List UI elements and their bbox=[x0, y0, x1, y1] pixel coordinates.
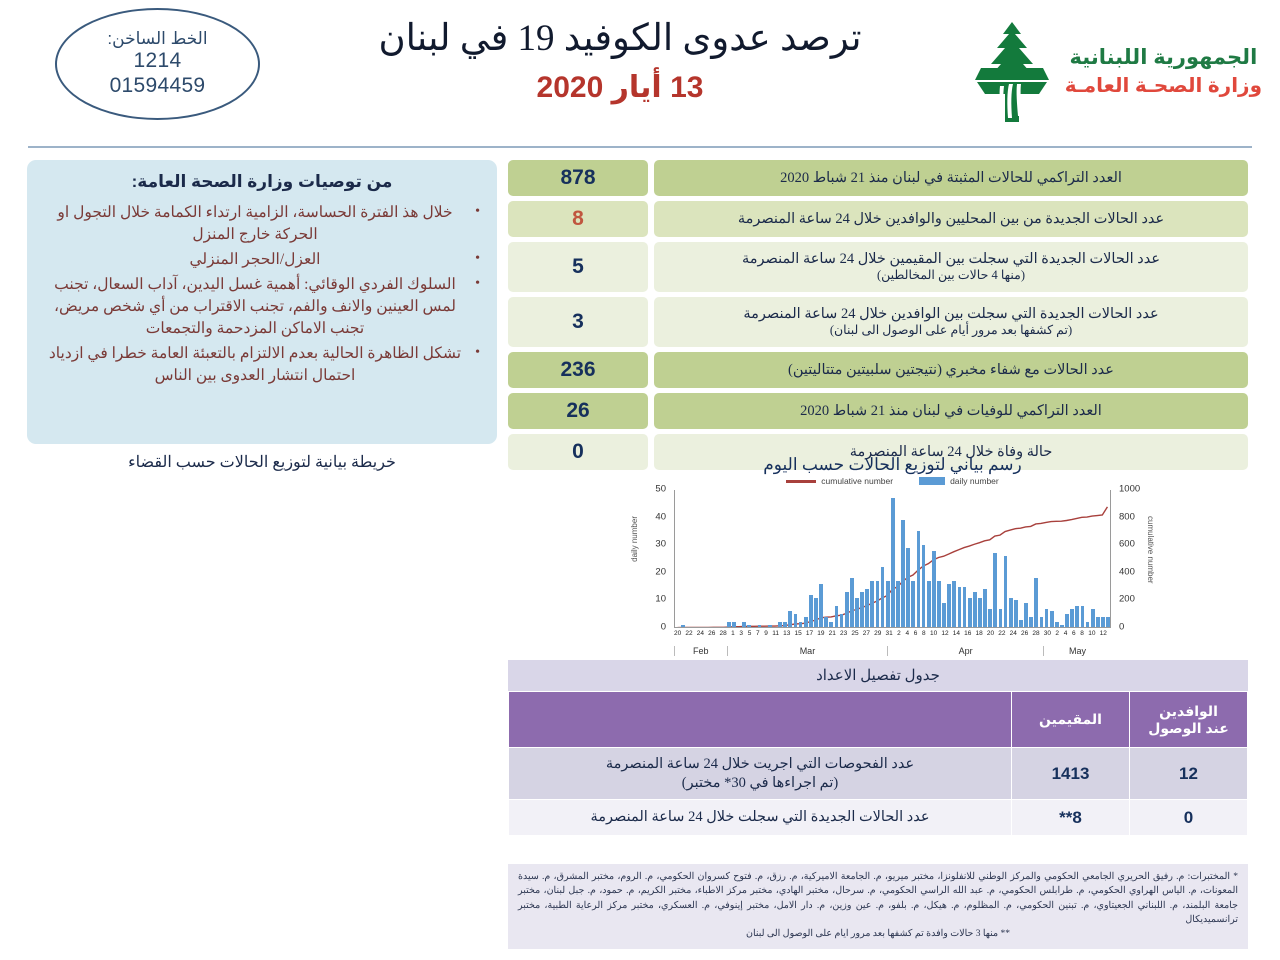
y2-tick-label: 600 bbox=[1119, 539, 1143, 550]
hotline-badge: الخط الساخن: 1214 01594459 bbox=[55, 8, 260, 120]
stat-label: عدد الحالات الجديدة من بين المحليين والو… bbox=[654, 201, 1248, 237]
cell-description: عدد الفحوصات التي اجريت خلال 24 ساعة الم… bbox=[509, 748, 1012, 800]
chart-bar bbox=[1009, 598, 1013, 628]
chart-bar bbox=[988, 609, 992, 628]
stat-label: العدد التراكمي للحالات المثبتة في لبنان … bbox=[654, 160, 1248, 196]
stat-value: 0 bbox=[508, 434, 648, 470]
chart-bar bbox=[850, 578, 854, 628]
y2-tick-label: 1000 bbox=[1119, 484, 1143, 495]
legend-label: daily number bbox=[950, 476, 999, 486]
stat-label: العدد التراكمي للوفيات في لبنان منذ 21 ش… bbox=[654, 393, 1248, 429]
chart-bar bbox=[947, 584, 951, 628]
legend-item-daily: daily number bbox=[919, 476, 999, 486]
legend-item-cumulative: cumulative number bbox=[786, 476, 893, 486]
chart-bar bbox=[999, 609, 1003, 628]
x-tick-label: 27 bbox=[863, 630, 870, 637]
stat-label-main: عدد الحالات الجديدة التي سجلت بين المقيم… bbox=[742, 251, 1160, 267]
x-tick-label: 15 bbox=[795, 630, 802, 637]
x-tick-label: 22 bbox=[685, 630, 692, 637]
x-tick-label: 16 bbox=[964, 630, 971, 637]
x-tick-label: 24 bbox=[697, 630, 704, 637]
chart-bar bbox=[927, 581, 931, 628]
chart-bar bbox=[1075, 606, 1079, 628]
stat-value: 3 bbox=[508, 297, 648, 347]
x-tick-label: 28 bbox=[720, 630, 727, 637]
chart-bar bbox=[917, 531, 921, 628]
chart-bar bbox=[1081, 606, 1085, 628]
table-row: 0 8** عدد الحالات الجديدة التي سجلت خلال… bbox=[509, 800, 1248, 836]
chart-bar bbox=[1004, 556, 1008, 628]
stat-row: عدد الحالات الجديدة من بين المحليين والو… bbox=[508, 201, 1248, 237]
x-tick-label: 12 bbox=[941, 630, 948, 637]
x-axis-ticks: 2022242628135791113151719212325272931246… bbox=[674, 630, 1111, 637]
footnote-labs: * المختبرات: م. رفيق الحريري الجامعي الح… bbox=[518, 870, 1238, 927]
chart-bar bbox=[896, 581, 900, 628]
ministry-names: الجمهورية اللبنانية وزارة الصحـة العامـة bbox=[1065, 44, 1262, 99]
stat-value: 5 bbox=[508, 242, 648, 292]
chart-bar bbox=[886, 581, 890, 628]
legend-swatch-bar-icon bbox=[919, 477, 945, 485]
x-axis-month-label: May bbox=[1043, 646, 1111, 656]
stat-value: 26 bbox=[508, 393, 648, 429]
recommendations-list: خلال هذ الفترة الحساسة، الزامية ارتداء ا… bbox=[43, 202, 481, 387]
x-axis-month-label: Apr bbox=[887, 646, 1043, 656]
chart-title: رسم بياني لتوزيع الحالات حسب اليوم bbox=[630, 455, 1155, 475]
chart-bar bbox=[860, 592, 864, 628]
legend-label: cumulative number bbox=[821, 476, 893, 486]
hotline-label: الخط الساخن: bbox=[107, 29, 207, 49]
chart-bar bbox=[952, 581, 956, 628]
legend-swatch-line-icon bbox=[786, 480, 816, 483]
page-header: الخط الساخن: 1214 01594459 ترصد عدوى الك… bbox=[0, 0, 1280, 148]
statistics-panel: العدد التراكمي للحالات المثبتة في لبنان … bbox=[508, 160, 1248, 475]
chart-bar bbox=[978, 598, 982, 628]
chart-bar bbox=[968, 598, 972, 628]
x-tick-label: 14 bbox=[953, 630, 960, 637]
x-axis-month-label: Mar bbox=[727, 646, 888, 656]
x-tick-label bbox=[1107, 630, 1111, 637]
y-tick-label: 10 bbox=[642, 594, 666, 605]
cell-arrivals: 0 bbox=[1130, 800, 1248, 836]
chart-bar bbox=[932, 551, 936, 628]
chart-bar bbox=[870, 581, 874, 628]
x-tick-label: 18 bbox=[976, 630, 983, 637]
chart-bar bbox=[1034, 578, 1038, 628]
list-item: العزل/الحجر المنزلي bbox=[43, 249, 467, 271]
stat-row: عدد الحالات مع شفاء مخبري (نتيجتين سلبيت… bbox=[508, 352, 1248, 388]
stat-value: 878 bbox=[508, 160, 648, 196]
stat-label-main: عدد الحالات الجديدة التي سجلت بين الوافد… bbox=[743, 306, 1158, 322]
chart-bar bbox=[1050, 611, 1054, 628]
y-axis-title-right: cumulative number bbox=[1146, 516, 1155, 584]
x-tick-label: 17 bbox=[806, 630, 813, 637]
x-tick-label: 13 bbox=[783, 630, 790, 637]
chart-bar bbox=[937, 581, 941, 628]
chart-bar bbox=[958, 587, 962, 628]
x-tick-label: 10 bbox=[1088, 630, 1095, 637]
chart-bar bbox=[1065, 614, 1069, 628]
stat-label-sub: (منها 4 حالات بين المخالطين) bbox=[742, 268, 1160, 284]
table-header-row: الوافدين عند الوصول المقيمين bbox=[509, 692, 1248, 748]
chart-bar bbox=[901, 520, 905, 628]
stat-label: عدد الحالات الجديدة التي سجلت بين المقيم… bbox=[654, 242, 1248, 292]
header-divider bbox=[28, 146, 1252, 148]
column-header-description bbox=[509, 692, 1012, 748]
hotline-number-primary: 1214 bbox=[134, 49, 182, 74]
x-tick-label: 20 bbox=[674, 630, 681, 637]
chart-bar bbox=[922, 545, 926, 628]
chart-bar bbox=[1091, 609, 1095, 628]
chart-bar bbox=[794, 614, 798, 628]
chart-bar bbox=[845, 592, 849, 628]
recommendations-panel: من توصيات وزارة الصحة العامة: خلال هذ ال… bbox=[27, 160, 497, 444]
chart-bar bbox=[1024, 603, 1028, 628]
chart-bar bbox=[814, 598, 818, 628]
stat-label-sub: (تم كشفها بعد مرور أيام على الوصول الى ل… bbox=[743, 323, 1158, 339]
chart-bar bbox=[876, 581, 880, 628]
cell-arrivals: 12 bbox=[1130, 748, 1248, 800]
chart-bar bbox=[963, 587, 967, 628]
chart-bar bbox=[983, 589, 987, 628]
chart-bar bbox=[906, 548, 910, 628]
chart-bar bbox=[1045, 609, 1049, 628]
report-date: 13 أيار 2020 bbox=[300, 70, 940, 105]
republic-name: الجمهورية اللبنانية bbox=[1065, 44, 1262, 72]
chart-bar bbox=[835, 606, 839, 628]
y2-tick-label: 0 bbox=[1119, 622, 1143, 633]
x-tick-label: 28 bbox=[1032, 630, 1039, 637]
x-tick-label: 25 bbox=[851, 630, 858, 637]
hotline-number-secondary: 01594459 bbox=[110, 74, 206, 99]
chart-bar bbox=[881, 567, 885, 628]
cell-description: عدد الحالات الجديدة التي سجلت خلال 24 سا… bbox=[509, 800, 1012, 836]
cedar-tree-icon bbox=[969, 18, 1055, 126]
x-tick-label: 12 bbox=[1100, 630, 1107, 637]
list-item: السلوك الفردي الوقائي: أهمية غسل اليدين،… bbox=[43, 274, 467, 340]
stat-label: عدد الحالات مع شفاء مخبري (نتيجتين سلبيت… bbox=[654, 352, 1248, 388]
x-tick-label: 19 bbox=[817, 630, 824, 637]
y2-tick-label: 400 bbox=[1119, 566, 1143, 577]
column-header-arrivals: الوافدين عند الوصول bbox=[1130, 692, 1248, 748]
x-tick-label: 11 bbox=[772, 630, 779, 637]
x-tick-label: 23 bbox=[840, 630, 847, 637]
detail-table-title: جدول تفصيل الاعداد bbox=[508, 660, 1248, 691]
chart-bar bbox=[855, 598, 859, 628]
chart-plot-area: daily number cumulative number 010203040… bbox=[630, 488, 1155, 628]
y-tick-label: 50 bbox=[642, 484, 666, 495]
map-caption: خريطة بيانية لتوزيع الحالات حسب القضاء bbox=[27, 452, 497, 472]
stat-row: العدد التراكمي للوفيات في لبنان منذ 21 ش… bbox=[508, 393, 1248, 429]
x-tick-label: 26 bbox=[1021, 630, 1028, 637]
x-axis-line bbox=[674, 627, 1111, 628]
chart-bar bbox=[891, 498, 895, 628]
chart-bar bbox=[911, 581, 915, 628]
stat-row: العدد التراكمي للحالات المثبتة في لبنان … bbox=[508, 160, 1248, 196]
footnote-arrivals: ** منها 3 حالات وافدة تم كشفها بعد مرور … bbox=[518, 927, 1238, 941]
ministry-name: وزارة الصحـة العامـة bbox=[1065, 73, 1262, 100]
column-header-arrivals-main: الوافدين bbox=[1131, 703, 1246, 720]
x-tick-label: 22 bbox=[998, 630, 1005, 637]
chart-bar bbox=[1070, 609, 1074, 628]
stat-label: عدد الحالات الجديدة التي سجلت بين الوافد… bbox=[654, 297, 1248, 347]
daily-cases-chart: رسم بياني لتوزيع الحالات حسب اليوم daily… bbox=[630, 455, 1155, 655]
x-tick-label: 24 bbox=[1010, 630, 1017, 637]
x-tick-label: 30 bbox=[1044, 630, 1051, 637]
chart-bar bbox=[840, 614, 844, 628]
y2-tick-label: 200 bbox=[1119, 594, 1143, 605]
cell-description-sub: (تم اجراءها في 30* مختبر) bbox=[682, 775, 838, 791]
ministry-logo: الجمهورية اللبنانية وزارة الصحـة العامـة bbox=[969, 18, 1262, 126]
cell-residents: 1413 bbox=[1012, 748, 1130, 800]
y2-tick-label: 800 bbox=[1119, 511, 1143, 522]
chart-bars bbox=[674, 490, 1111, 628]
chart-legend: daily number cumulative number bbox=[630, 476, 1155, 486]
chart-bar bbox=[819, 584, 823, 628]
stat-value: 8 bbox=[508, 201, 648, 237]
column-header-arrivals-sub: عند الوصول bbox=[1131, 720, 1246, 737]
chart-bar bbox=[809, 595, 813, 628]
stat-value: 236 bbox=[508, 352, 648, 388]
chart-bar bbox=[788, 611, 792, 628]
chart-bar bbox=[865, 589, 869, 628]
x-tick-label: 29 bbox=[874, 630, 881, 637]
list-item: تشكل الظاهرة الحالية بعدم الالتزام بالتع… bbox=[43, 343, 467, 387]
x-tick-label: 20 bbox=[987, 630, 994, 637]
list-item: خلال هذ الفترة الحساسة، الزامية ارتداء ا… bbox=[43, 202, 467, 246]
recommendations-title: من توصيات وزارة الصحة العامة: bbox=[43, 172, 481, 192]
y-tick-label: 0 bbox=[642, 622, 666, 633]
x-tick-label: 26 bbox=[708, 630, 715, 637]
x-tick-label: 31 bbox=[886, 630, 893, 637]
title-block: ترصد عدوى الكوفيد 19 في لبنان 13 أيار 20… bbox=[300, 16, 940, 105]
stat-row: عدد الحالات الجديدة التي سجلت بين الوافد… bbox=[508, 297, 1248, 347]
y-tick-label: 30 bbox=[642, 539, 666, 550]
page-title: ترصد عدوى الكوفيد 19 في لبنان bbox=[300, 16, 940, 60]
column-header-residents: المقيمين bbox=[1012, 692, 1130, 748]
x-axis-months: FebMarAprMay bbox=[674, 646, 1111, 656]
bar-slot bbox=[1106, 490, 1111, 628]
detail-table: جدول تفصيل الاعداد الوافدين عند الوصول ا… bbox=[508, 660, 1248, 836]
y-axis-title-left: daily number bbox=[630, 516, 639, 562]
cell-residents: 8** bbox=[1012, 800, 1130, 836]
chart-bar bbox=[973, 592, 977, 628]
x-axis-month-label: Feb bbox=[674, 646, 727, 656]
table-row: 12 1413 عدد الفحوصات التي اجريت خلال 24 … bbox=[509, 748, 1248, 800]
x-tick-label: 10 bbox=[930, 630, 937, 637]
cell-description-main: عدد الفحوصات التي اجريت خلال 24 ساعة الم… bbox=[606, 756, 914, 772]
x-tick-label: 21 bbox=[829, 630, 836, 637]
chart-bar bbox=[942, 603, 946, 628]
y-tick-label: 20 bbox=[642, 566, 666, 577]
stat-row: عدد الحالات الجديدة التي سجلت بين المقيم… bbox=[508, 242, 1248, 292]
y-tick-label: 40 bbox=[642, 511, 666, 522]
chart-bar bbox=[993, 553, 997, 628]
chart-bar bbox=[1014, 600, 1018, 628]
footnotes: * المختبرات: م. رفيق الحريري الجامعي الح… bbox=[508, 864, 1248, 949]
